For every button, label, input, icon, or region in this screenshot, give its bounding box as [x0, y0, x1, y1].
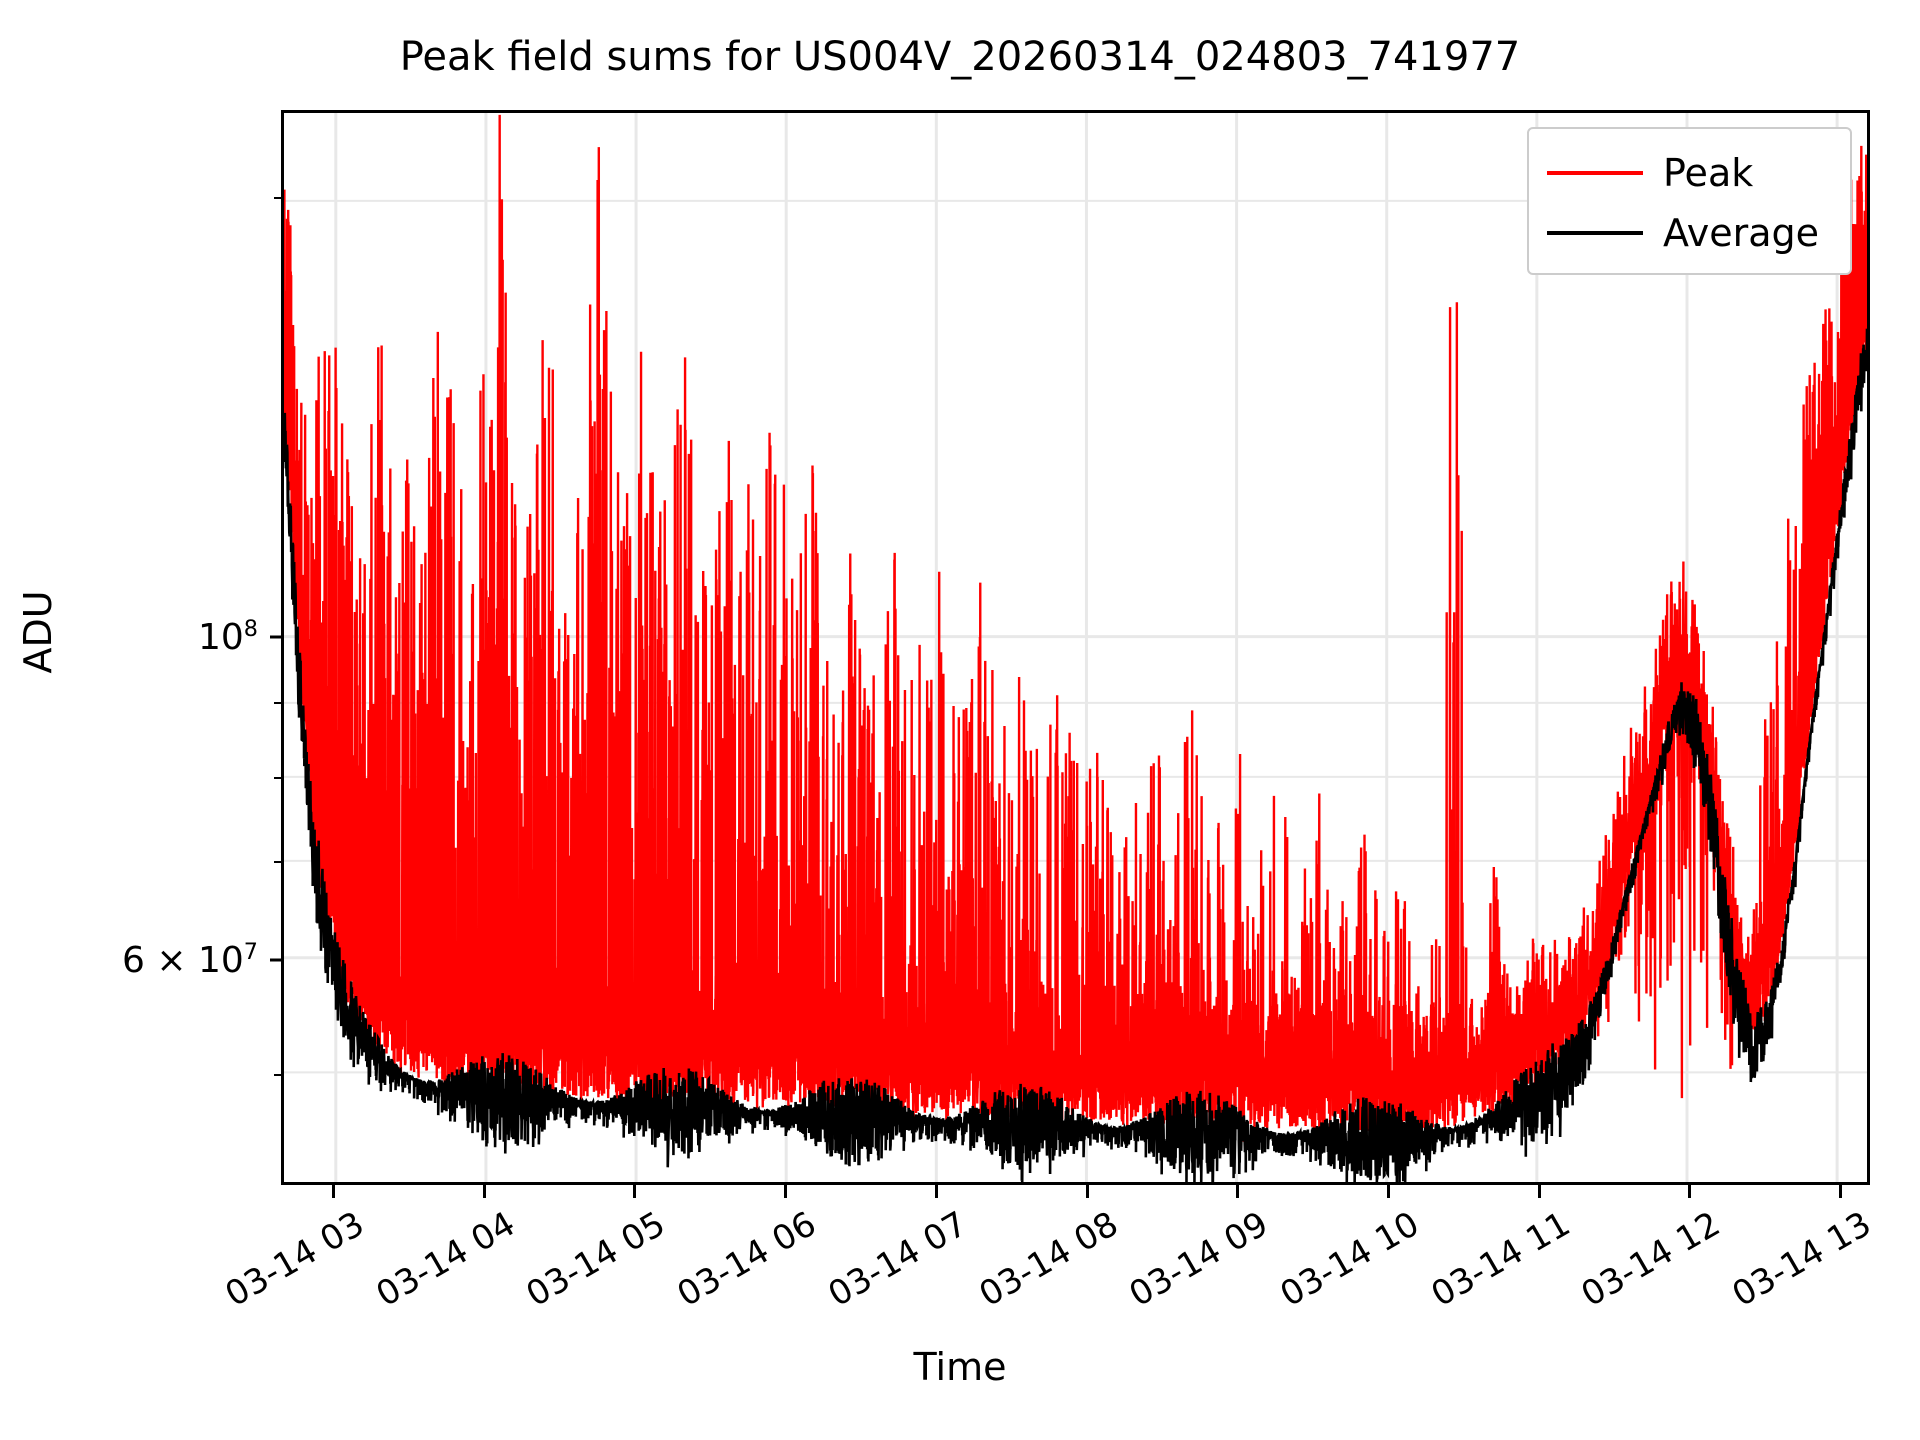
chart-title: Peak field sums for US004V_20260314_0248… — [0, 34, 1920, 80]
x-tick-mark — [1688, 1185, 1691, 1198]
x-tick-mark — [784, 1185, 787, 1198]
legend-label-peak: Peak — [1663, 154, 1753, 192]
legend-swatch-peak — [1547, 171, 1643, 175]
y-tick-label: 6 × 107 — [0, 939, 258, 981]
x-tick-label: 03-14 10 — [1273, 1204, 1425, 1315]
x-tick-label: 03-14 09 — [1123, 1204, 1275, 1315]
y-tick-label: 108 — [0, 616, 258, 658]
x-tick-label: 03-14 03 — [219, 1204, 371, 1315]
legend-item-peak[interactable]: Peak — [1547, 143, 1832, 203]
legend-swatch-average — [1547, 231, 1643, 235]
x-tick-label: 03-14 05 — [520, 1204, 672, 1315]
x-tick-label: 03-14 06 — [671, 1204, 823, 1315]
x-tick-label: 03-14 08 — [972, 1204, 1124, 1315]
legend-item-average[interactable]: Average — [1547, 203, 1832, 263]
x-tick-mark — [483, 1185, 486, 1198]
x-tick-mark — [633, 1185, 636, 1198]
x-tick-mark — [935, 1185, 938, 1198]
x-tick-label: 03-14 04 — [369, 1204, 521, 1315]
x-tick-mark — [332, 1185, 335, 1198]
x-tick-mark — [1538, 1185, 1541, 1198]
x-tick-mark — [1236, 1185, 1239, 1198]
legend-label-average: Average — [1663, 214, 1819, 252]
matplotlib-figure: Peak field sums for US004V_20260314_0248… — [0, 0, 1920, 1440]
x-tick-mark — [1387, 1185, 1390, 1198]
x-tick-label: 03-14 11 — [1424, 1204, 1576, 1315]
x-tick-label: 03-14 12 — [1575, 1204, 1727, 1315]
x-tick-label: 03-14 13 — [1726, 1204, 1878, 1315]
legend[interactable]: Peak Average — [1527, 127, 1852, 275]
x-tick-label: 03-14 07 — [821, 1204, 973, 1315]
x-tick-mark — [1839, 1185, 1842, 1198]
x-tick-mark — [1086, 1185, 1089, 1198]
x-axis-label: Time — [0, 1345, 1920, 1389]
